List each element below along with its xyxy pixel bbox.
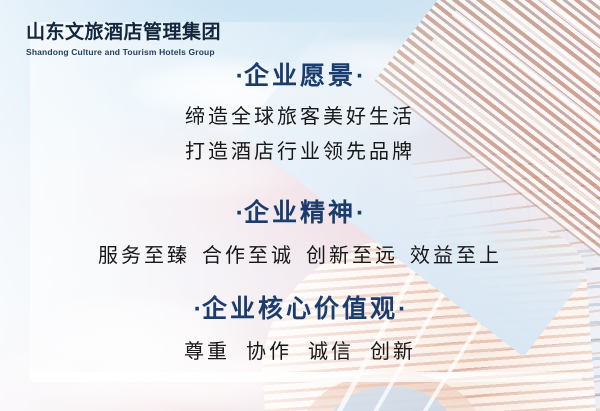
company-logo: 山东文旅酒店管理集团 Shandong Culture and Tourism … bbox=[26, 22, 246, 57]
heading-dot-left: · bbox=[236, 199, 244, 227]
heading-dot-right: · bbox=[356, 62, 364, 90]
heading-dot-left: · bbox=[236, 62, 244, 90]
section-spirit-heading: ·企业精神· bbox=[0, 198, 600, 229]
core-value-word: 创新 bbox=[370, 341, 416, 363]
heading-text: 企业愿景 bbox=[244, 62, 356, 90]
spirit-phrase: 效益至上 bbox=[410, 245, 502, 267]
corporate-culture-poster: 山东文旅酒店管理集团 Shandong Culture and Tourism … bbox=[0, 0, 600, 411]
heading-dot-right: · bbox=[356, 199, 364, 227]
logo-name-chinese: 山东文旅酒店管理集团 bbox=[26, 22, 246, 44]
poster-content: 山东文旅酒店管理集团 Shandong Culture and Tourism … bbox=[0, 0, 600, 411]
heading-dot-right: · bbox=[398, 295, 406, 323]
section-vision-heading: ·企业愿景· bbox=[0, 61, 600, 92]
section-vision: ·企业愿景· 缔造全球旅客美好生活 打造酒店行业领先品牌 bbox=[0, 61, 600, 168]
heading-dot-left: · bbox=[194, 295, 202, 323]
logo-name-english: Shandong Culture and Tourism Hotels Grou… bbox=[26, 47, 246, 57]
core-value-word: 尊重 bbox=[184, 341, 230, 363]
section-core-values-words: 尊重协作诚信创新 bbox=[0, 335, 600, 364]
section-core-values: ·企业核心价值观· 尊重协作诚信创新 bbox=[0, 294, 600, 364]
core-value-word: 诚信 bbox=[308, 341, 354, 363]
spirit-phrase: 合作至诚 bbox=[202, 245, 294, 267]
section-spirit-phrases: 服务至臻合作至诚创新至远效益至上 bbox=[0, 239, 600, 268]
core-value-word: 协作 bbox=[246, 341, 292, 363]
section-core-values-heading: ·企业核心价值观· bbox=[0, 294, 600, 325]
spirit-phrase: 创新至远 bbox=[306, 245, 398, 267]
heading-text: 企业精神 bbox=[244, 199, 356, 227]
heading-text: 企业核心价值观 bbox=[202, 295, 398, 323]
section-vision-line-2: 打造酒店行业领先品牌 bbox=[0, 137, 600, 168]
section-vision-line-1: 缔造全球旅客美好生活 bbox=[0, 102, 600, 133]
section-spirit: ·企业精神· 服务至臻合作至诚创新至远效益至上 bbox=[0, 198, 600, 268]
spirit-phrase: 服务至臻 bbox=[98, 245, 190, 267]
